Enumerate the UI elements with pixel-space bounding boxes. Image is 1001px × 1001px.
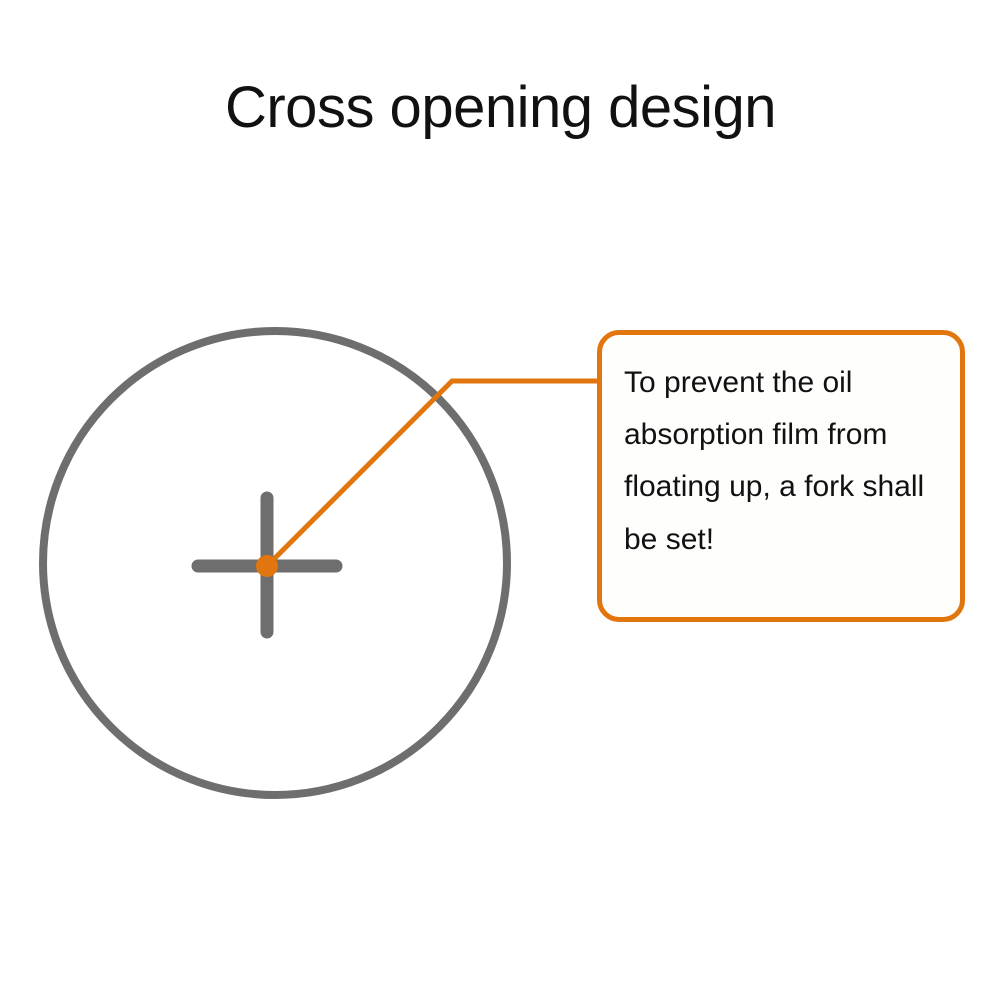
callout-text: To prevent the oil absorption film from … xyxy=(624,357,954,566)
center-point-dot xyxy=(256,555,278,577)
callout-box: To prevent the oil absorption film from … xyxy=(597,330,965,622)
infographic-canvas: Cross opening design To prevent the oil … xyxy=(0,0,1001,1001)
callout-leader-line xyxy=(267,381,600,566)
